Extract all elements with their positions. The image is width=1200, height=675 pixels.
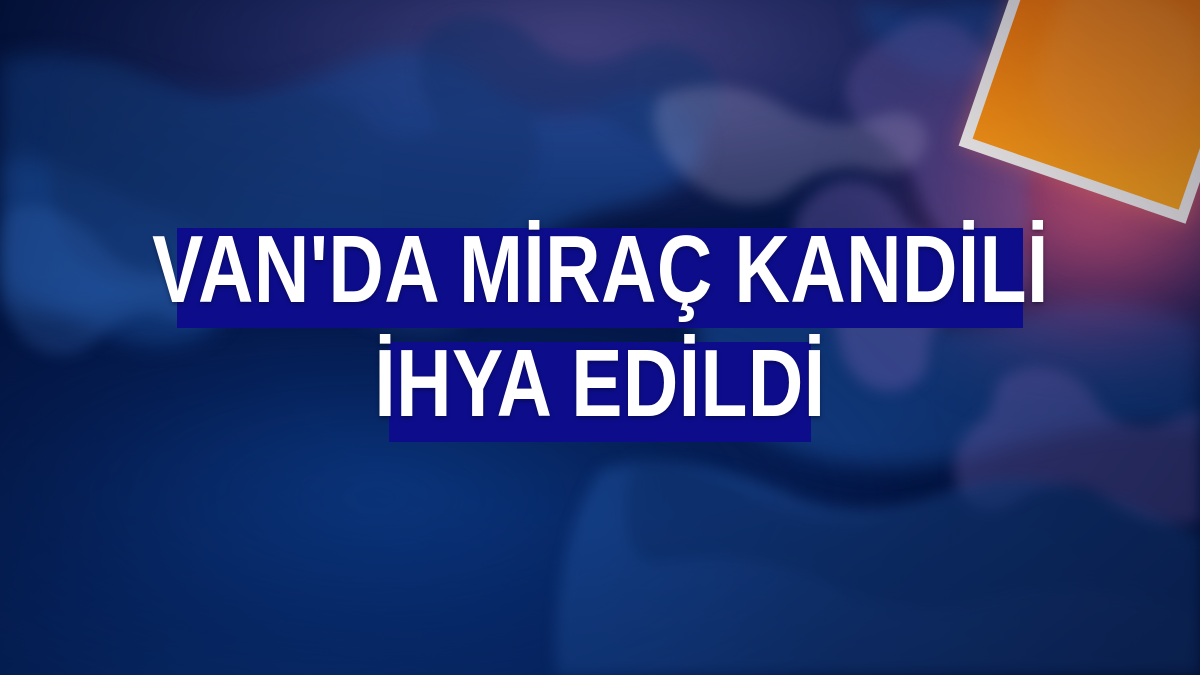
news-banner: VAN'DA MİRAÇ KANDİLİ İHYA EDİLDİ <box>0 0 1200 675</box>
headline-line-2: İHYA EDİLDİ <box>0 336 1200 442</box>
headline: VAN'DA MİRAÇ KANDİLİ İHYA EDİLDİ <box>0 222 1200 442</box>
headline-line-1: VAN'DA MİRAÇ KANDİLİ <box>0 222 1200 328</box>
headline-line-2-text: İHYA EDİLDİ <box>362 336 839 432</box>
headline-line-1-text: VAN'DA MİRAÇ KANDİLİ <box>139 222 1061 318</box>
